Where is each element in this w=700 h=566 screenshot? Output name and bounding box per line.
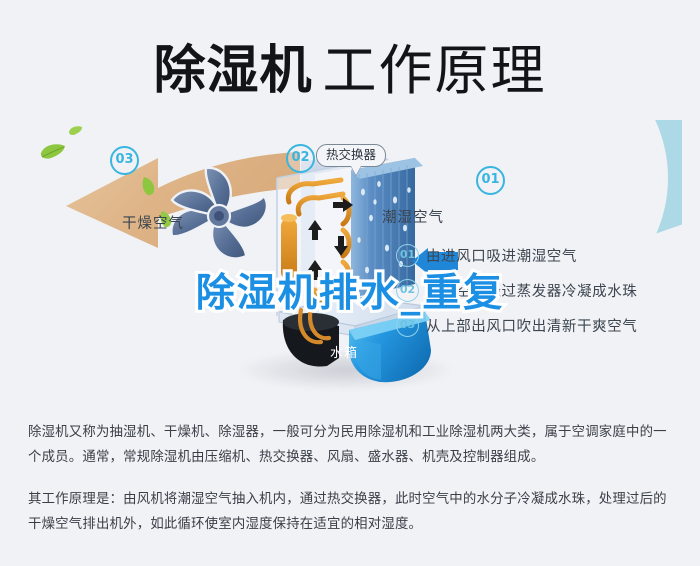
heat-exchanger-callout: 热交换器 (316, 144, 386, 167)
diagram-badge-01: 01 (476, 166, 505, 195)
page-title-primary: 除湿机 (153, 41, 312, 101)
dry-air-label: 干燥空气 (122, 212, 184, 233)
moist-air-label: 潮湿空气 (382, 206, 444, 227)
body-paragraph-1: 除湿机又称为抽湿机、干燥机、除湿器，一般可分为民用除湿机和工业除湿机两大类，属于… (28, 420, 676, 470)
water-tank-label: 水箱 (330, 342, 358, 361)
article-body: 除湿机又称为抽湿机、干燥机、除湿器，一般可分为民用除湿机和工业除湿机两大类，属于… (28, 420, 676, 537)
page-title-secondary: 工作原理 (323, 39, 547, 102)
watermark-text: 除湿机排水_重复 (0, 262, 700, 318)
heat-exchanger-callout-label: 热交换器 (326, 147, 376, 162)
page-root: 除湿机工作原理 (0, 0, 700, 566)
diagram-badge-03: 03 (110, 146, 139, 175)
page-title: 除湿机工作原理 (0, 26, 700, 105)
leaf-icon (40, 144, 66, 161)
body-paragraph-2: 其工作原理是：由风机将潮湿空气抽入机内，通过热交换器，此时空气中的水分子冷凝成水… (28, 487, 676, 537)
leaf-icon (68, 126, 83, 137)
leaf-icon (142, 176, 156, 196)
diagram-badge-02: 02 (286, 144, 315, 173)
callout-tail-icon (351, 166, 361, 175)
